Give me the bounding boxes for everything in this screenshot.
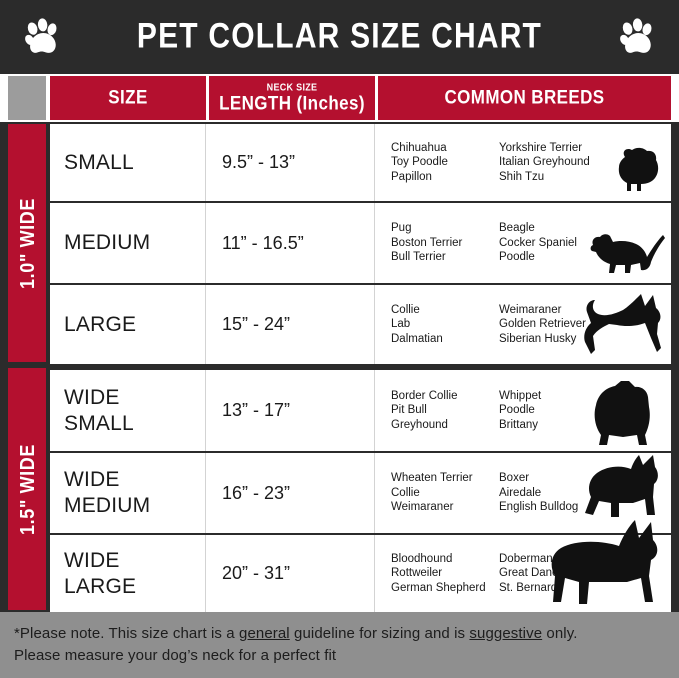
footer-text-c: only. (542, 625, 577, 642)
cell-breeds: Chihuahua Toy Poodle Papillon Yorkshire … (375, 124, 671, 201)
footer-note: *Please note. This size chart is a gener… (0, 612, 679, 678)
length-value: 16” - 23” (222, 483, 290, 504)
table-rows: SMALL 9.5” - 13” Chihuahua Toy Poodle Pa… (50, 124, 671, 610)
section-band-1-0-wide-label: 1.0" WIDE (15, 198, 39, 289)
header-corner-box (8, 76, 46, 120)
cell-length: 16” - 23” (206, 453, 375, 533)
section-band-1-0-wide: 1.0" WIDE (8, 124, 46, 362)
breeds-column-1: Pug Boston Terrier Bull Terrier (391, 221, 499, 265)
bulldog-silhouette (575, 375, 667, 449)
table-header-row: SIZE NECK SIZE LENGTH (Inches) COMMON BR… (0, 74, 679, 122)
size-label: LARGE (64, 312, 136, 338)
paw-print-icon (617, 18, 657, 58)
footer-line-1: *Please note. This size chart is a gener… (14, 623, 679, 645)
table-row: SMALL 9.5” - 13” Chihuahua Toy Poodle Pa… (50, 124, 671, 201)
breeds-column-1: Bloodhound Rottweiler German Shepherd (391, 552, 499, 596)
footer-text-b: guideline for sizing and is (290, 625, 470, 642)
column-header-size: SIZE (50, 76, 206, 120)
cell-size: WIDE LARGE (50, 535, 206, 612)
breeds-column-2: Yorkshire Terrier Italian Greyhound Shih… (499, 141, 611, 185)
column-header-neck-size-label: NECK SIZE (267, 82, 318, 92)
length-value: 15” - 24” (222, 314, 290, 335)
doberman-silhouette (531, 518, 667, 610)
cell-length: 11” - 16.5” (206, 203, 375, 283)
section-band-1-5-wide-label: 1.5" WIDE (15, 444, 39, 535)
size-label: MEDIUM (64, 230, 150, 256)
table-body: 1.0" WIDE 1.5" WIDE SMALL 9.5” - 13” Chi… (0, 122, 679, 612)
small-fluffy-dog-silhouette (605, 143, 667, 199)
cell-size: SMALL (50, 124, 206, 201)
cell-breeds: Border Collie Pit Bull Greyhound Whippet… (375, 370, 671, 451)
size-label-line2: LARGE (64, 574, 136, 600)
column-header-breeds-label: COMMON BREEDS (444, 87, 604, 110)
size-label: WIDE (64, 548, 136, 574)
footer-text-a: *Please note. This size chart is a (14, 625, 239, 642)
pet-collar-size-chart: PET COLLAR SIZE CHART SIZE NECK SIZE LEN… (0, 0, 679, 678)
length-value: 11” - 16.5” (222, 233, 304, 254)
size-label: WIDE (64, 385, 134, 411)
table-row: MEDIUM 11” - 16.5” Pug Boston Terrier Bu… (50, 203, 671, 283)
length-value: 9.5” - 13” (222, 152, 295, 173)
table-row: LARGE 15” - 24” Collie Lab Dalmatian Wei… (50, 285, 671, 364)
beagle-silhouette (583, 223, 667, 281)
cell-breeds: Pug Boston Terrier Bull Terrier Beagle C… (375, 203, 671, 283)
footer-text-general: general (239, 625, 290, 642)
column-header-breeds: COMMON BREEDS (378, 76, 671, 120)
breeds-column-1: Collie Lab Dalmatian (391, 303, 499, 347)
table-row: WIDE LARGE 20” - 31” Bloodhound Rottweil… (50, 535, 671, 612)
footer-line-2: Please measure your dog’s neck for a per… (14, 645, 679, 667)
breeds-column-1: Chihuahua Toy Poodle Papillon (391, 141, 499, 185)
cell-length: 20” - 31” (206, 535, 375, 612)
cell-size: MEDIUM (50, 203, 206, 283)
page-title: PET COLLAR SIZE CHART (137, 17, 542, 57)
size-label-line2: MEDIUM (64, 493, 150, 519)
breeds-column-1: Wheaten Terrier Collie Weimaraner (391, 471, 499, 515)
title-bar: PET COLLAR SIZE CHART (0, 0, 679, 74)
size-label-line2: SMALL (64, 411, 134, 437)
cell-length: 15” - 24” (206, 285, 375, 364)
cell-size: WIDE MEDIUM (50, 453, 206, 533)
table-row: WIDE SMALL 13” - 17” Border Collie Pit B… (50, 370, 671, 451)
length-value: 20” - 31” (222, 563, 290, 584)
paw-print-icon (22, 18, 62, 58)
cell-length: 9.5” - 13” (206, 124, 375, 201)
column-header-length-label: LENGTH (Inches) (219, 92, 365, 115)
section-band-1-5-wide: 1.5" WIDE (8, 368, 46, 610)
cell-breeds: Bloodhound Rottweiler German Shepherd Do… (375, 535, 671, 612)
size-label: SMALL (64, 150, 134, 176)
cell-breeds: Collie Lab Dalmatian Weimaraner Golden R… (375, 285, 671, 364)
column-header-size-label: SIZE (108, 87, 147, 110)
cell-length: 13” - 17” (206, 370, 375, 451)
cell-size: LARGE (50, 285, 206, 364)
length-value: 13” - 17” (222, 400, 290, 421)
column-header-length: NECK SIZE LENGTH (Inches) (209, 76, 375, 120)
shepherd-silhouette (571, 290, 667, 362)
cell-size: WIDE SMALL (50, 370, 206, 451)
breeds-column-1: Border Collie Pit Bull Greyhound (391, 389, 499, 433)
size-label: WIDE (64, 467, 150, 493)
footer-text-suggestive: suggestive (469, 625, 542, 642)
